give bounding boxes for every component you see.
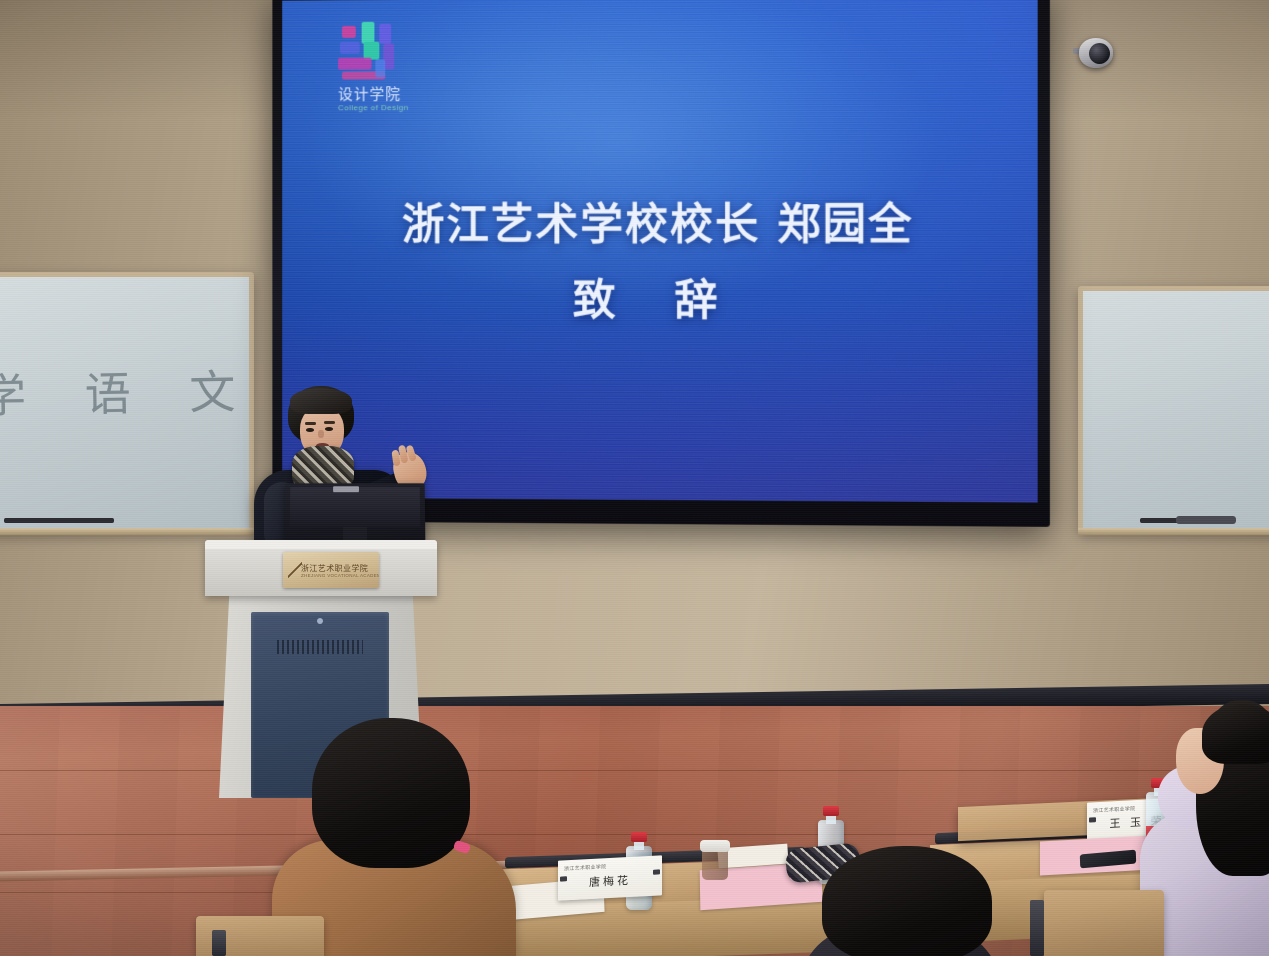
lectern-vents — [277, 640, 363, 654]
lectern-plaque-subtext: ZHEJIANG VOCATIONAL ACADEMY OF ART — [301, 573, 379, 578]
seat-frame-left — [212, 930, 226, 956]
monitor-brand-label — [333, 486, 359, 492]
nameplate-right-title: 浙江艺术职业学院 — [1093, 805, 1135, 814]
seat-frame-right — [1030, 900, 1044, 956]
lectern-panel-indicator — [317, 618, 323, 624]
whiteboard-right-tray — [1078, 528, 1269, 535]
monitor-stand — [343, 527, 367, 541]
paper-cup — [700, 840, 730, 880]
audience-center-hair — [822, 846, 992, 956]
lectern-plaque: 浙江艺术职业学院 ZHEJIANG VOCATIONAL ACADEMY OF … — [283, 552, 379, 588]
whiteboard-left-tray — [0, 528, 254, 535]
seat-back-right — [1044, 890, 1164, 956]
whiteboard-left: 学 语 文 — [0, 272, 254, 534]
audience-person-center — [800, 836, 1000, 956]
nameplate-left-name: 唐梅花 — [558, 870, 662, 891]
audience-person-right — [1148, 700, 1269, 956]
lecture-hall-photo: 学 语 文 — [0, 0, 1269, 956]
lectern-plaque-logo-icon — [288, 562, 302, 578]
nameplate-left-title: 浙江艺术职业学院 — [564, 863, 606, 872]
nameplate-front-left: 浙江艺术职业学院 唐梅花 — [558, 855, 662, 900]
audience-left-hair — [312, 718, 470, 868]
whiteboard-left-writing: 学 语 文 — [0, 356, 258, 427]
podium-monitor-screen — [290, 487, 420, 527]
whiteboard-right — [1078, 286, 1269, 534]
lectern-top: 浙江艺术职业学院 ZHEJIANG VOCATIONAL ACADEMY OF … — [205, 540, 437, 596]
ceiling-camera-icon — [1073, 34, 1117, 74]
whiteboard-right-surface — [1083, 291, 1269, 529]
